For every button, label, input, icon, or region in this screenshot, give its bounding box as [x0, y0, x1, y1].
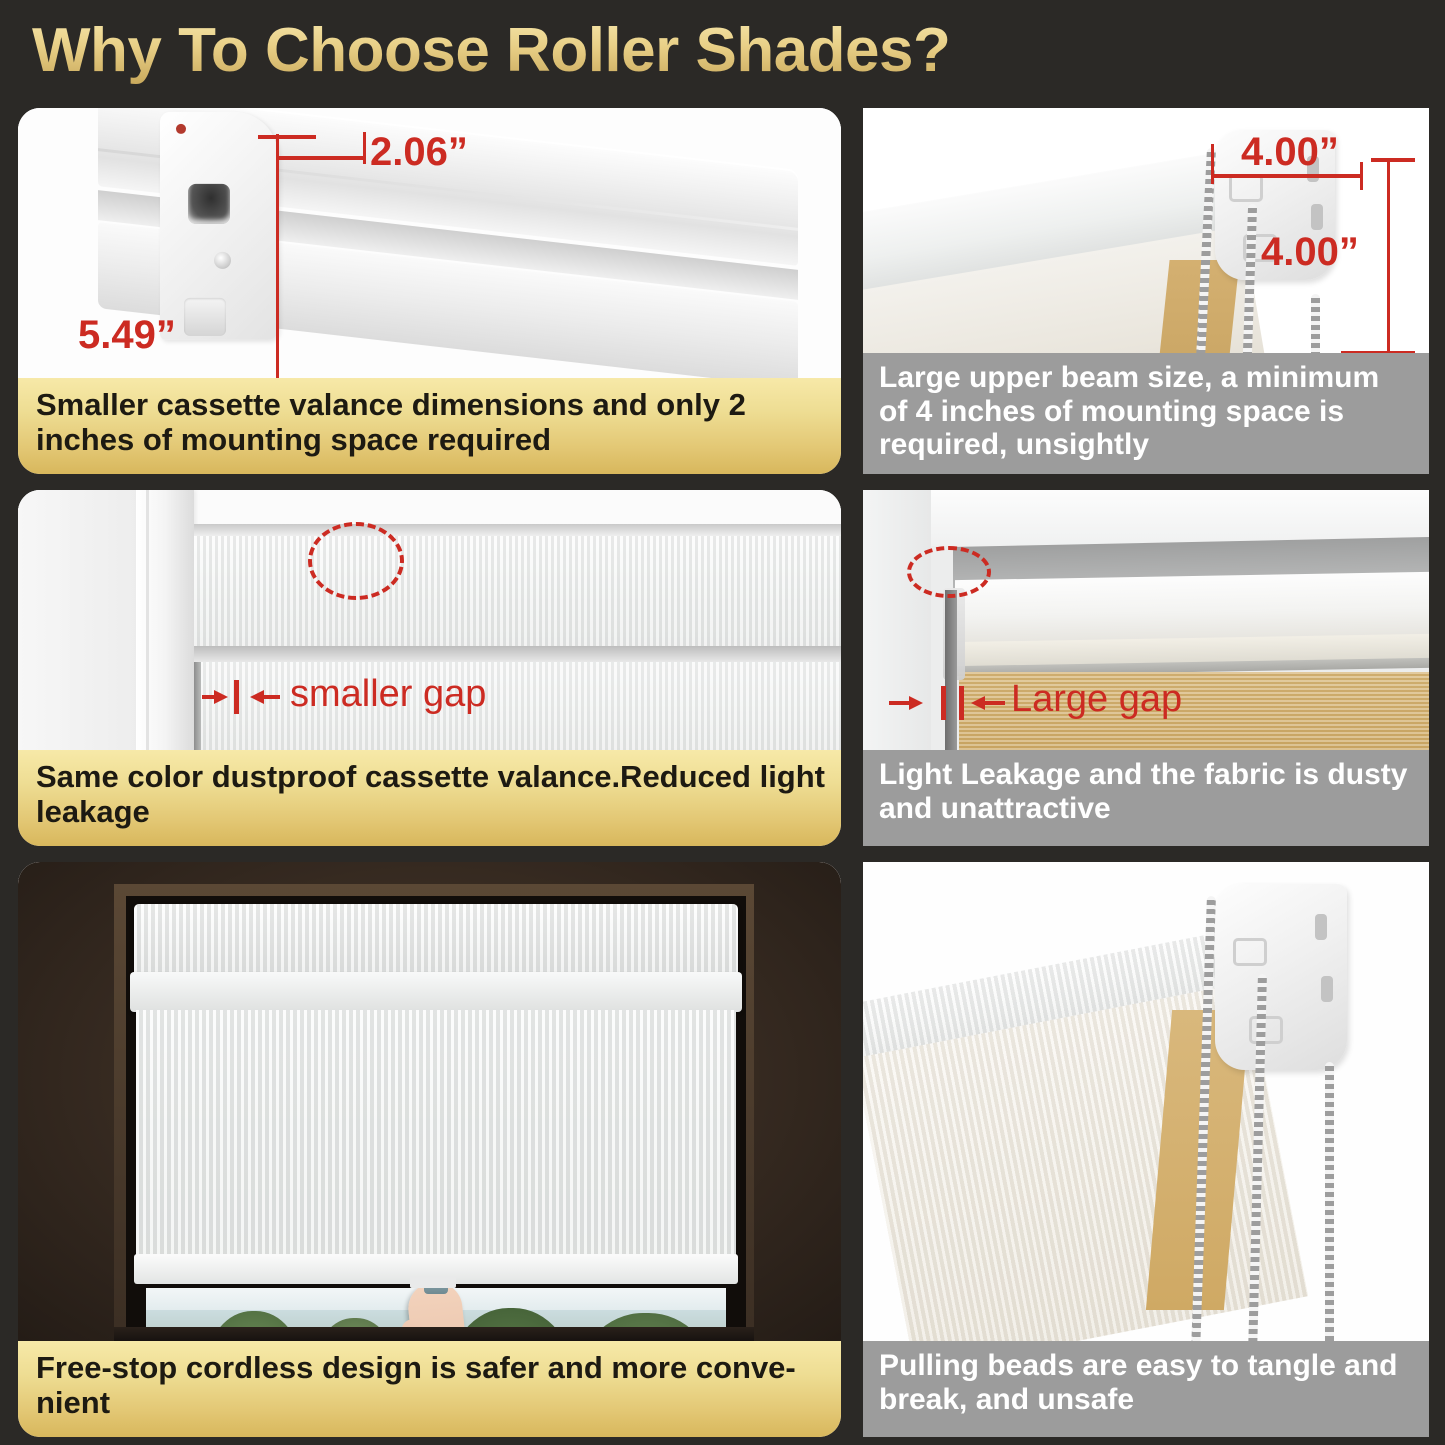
bead-chain [1311, 294, 1320, 353]
panel-1-caption: Smaller cassette valance dimensions and … [18, 378, 841, 474]
cap-knob-icon [184, 298, 226, 336]
panel-4[interactable]: Large gap Light Leakage and the fabric i… [863, 490, 1429, 846]
gap-label: Large gap [1011, 678, 1182, 721]
window-frame [136, 490, 194, 750]
dimension-width-label: 4.00” [1241, 130, 1339, 175]
highlight-ellipse-icon [308, 522, 404, 600]
mounting-bracket [1215, 884, 1347, 1070]
panel-3[interactable]: smaller gap Same color dustproof cassett… [18, 490, 841, 846]
panel-cell-3: smaller gap Same color dustproof cassett… [0, 482, 855, 854]
dimension-height-label: 5.49” [78, 313, 176, 358]
cassette-valance [134, 904, 738, 976]
panel-2-caption: Large upper beam size, a minimum of 4 in… [863, 353, 1429, 474]
panel-5-caption-line1: Free-stop cordless design is safer and m… [36, 1351, 825, 1386]
panel-cell-2: 4.00” 4.00” Large upper beam size, a min… [855, 100, 1445, 482]
gap-edge [945, 590, 957, 750]
panel-5[interactable]: Free-stop cordless design is safer and m… [18, 862, 841, 1437]
gap-edge [194, 662, 201, 750]
comparison-grid: 2.06” 5.49” Smaller cassette valance dim… [0, 100, 1445, 1445]
dimension-height-label: 4.00” [1261, 230, 1359, 275]
cap-slot-icon [188, 184, 230, 224]
highlight-ellipse-icon [907, 546, 991, 598]
panel-2-image: 4.00” 4.00” [863, 108, 1429, 353]
panel-2[interactable]: 4.00” 4.00” Large upper beam size, a min… [863, 108, 1429, 474]
header: Why To Choose Roller Shades? [0, 0, 1445, 100]
panel-4-caption: Light Leakage and the fabric is dusty an… [863, 750, 1429, 846]
valance-end-cap [160, 112, 278, 340]
panel-3-caption: Same color dustproof cassette valance.Re… [18, 750, 841, 846]
cassette-valance [194, 536, 841, 646]
shade-fabric [136, 1010, 736, 1262]
panel-cell-1: 2.06” 5.49” Smaller cassette valance dim… [0, 100, 855, 482]
panel-5-caption-line2: nient [36, 1386, 825, 1421]
panel-6[interactable]: Pulling beads are easy to tangle and bre… [863, 862, 1429, 1437]
arrow-left-icon [250, 690, 264, 704]
panel-1-image: 2.06” 5.49” [18, 108, 841, 378]
panel-1[interactable]: 2.06” 5.49” Smaller cassette valance dim… [18, 108, 841, 474]
panel-4-image: Large gap [863, 490, 1429, 750]
panel-cell-4: Large gap Light Leakage and the fabric i… [855, 482, 1445, 854]
panel-6-image [863, 862, 1429, 1341]
page-title: Why To Choose Roller Shades? [32, 15, 950, 86]
panel-cell-5: Free-stop cordless design is safer and m… [0, 854, 855, 1445]
gap-label: smaller gap [290, 673, 486, 716]
panel-5-caption: Free-stop cordless design is safer and m… [18, 1341, 841, 1437]
screw-icon [214, 252, 231, 269]
bead-chain [1325, 1062, 1334, 1341]
panel-5-image [18, 862, 841, 1341]
panel-3-image: smaller gap [18, 490, 841, 750]
dimension-width-label: 2.06” [370, 130, 468, 175]
arrow-left-icon [971, 696, 985, 710]
panel-6-caption: Pulling beads are easy to tangle and bre… [863, 1341, 1429, 1437]
top-rail [130, 972, 742, 1012]
panel-cell-6: Pulling beads are easy to tangle and bre… [855, 854, 1445, 1445]
